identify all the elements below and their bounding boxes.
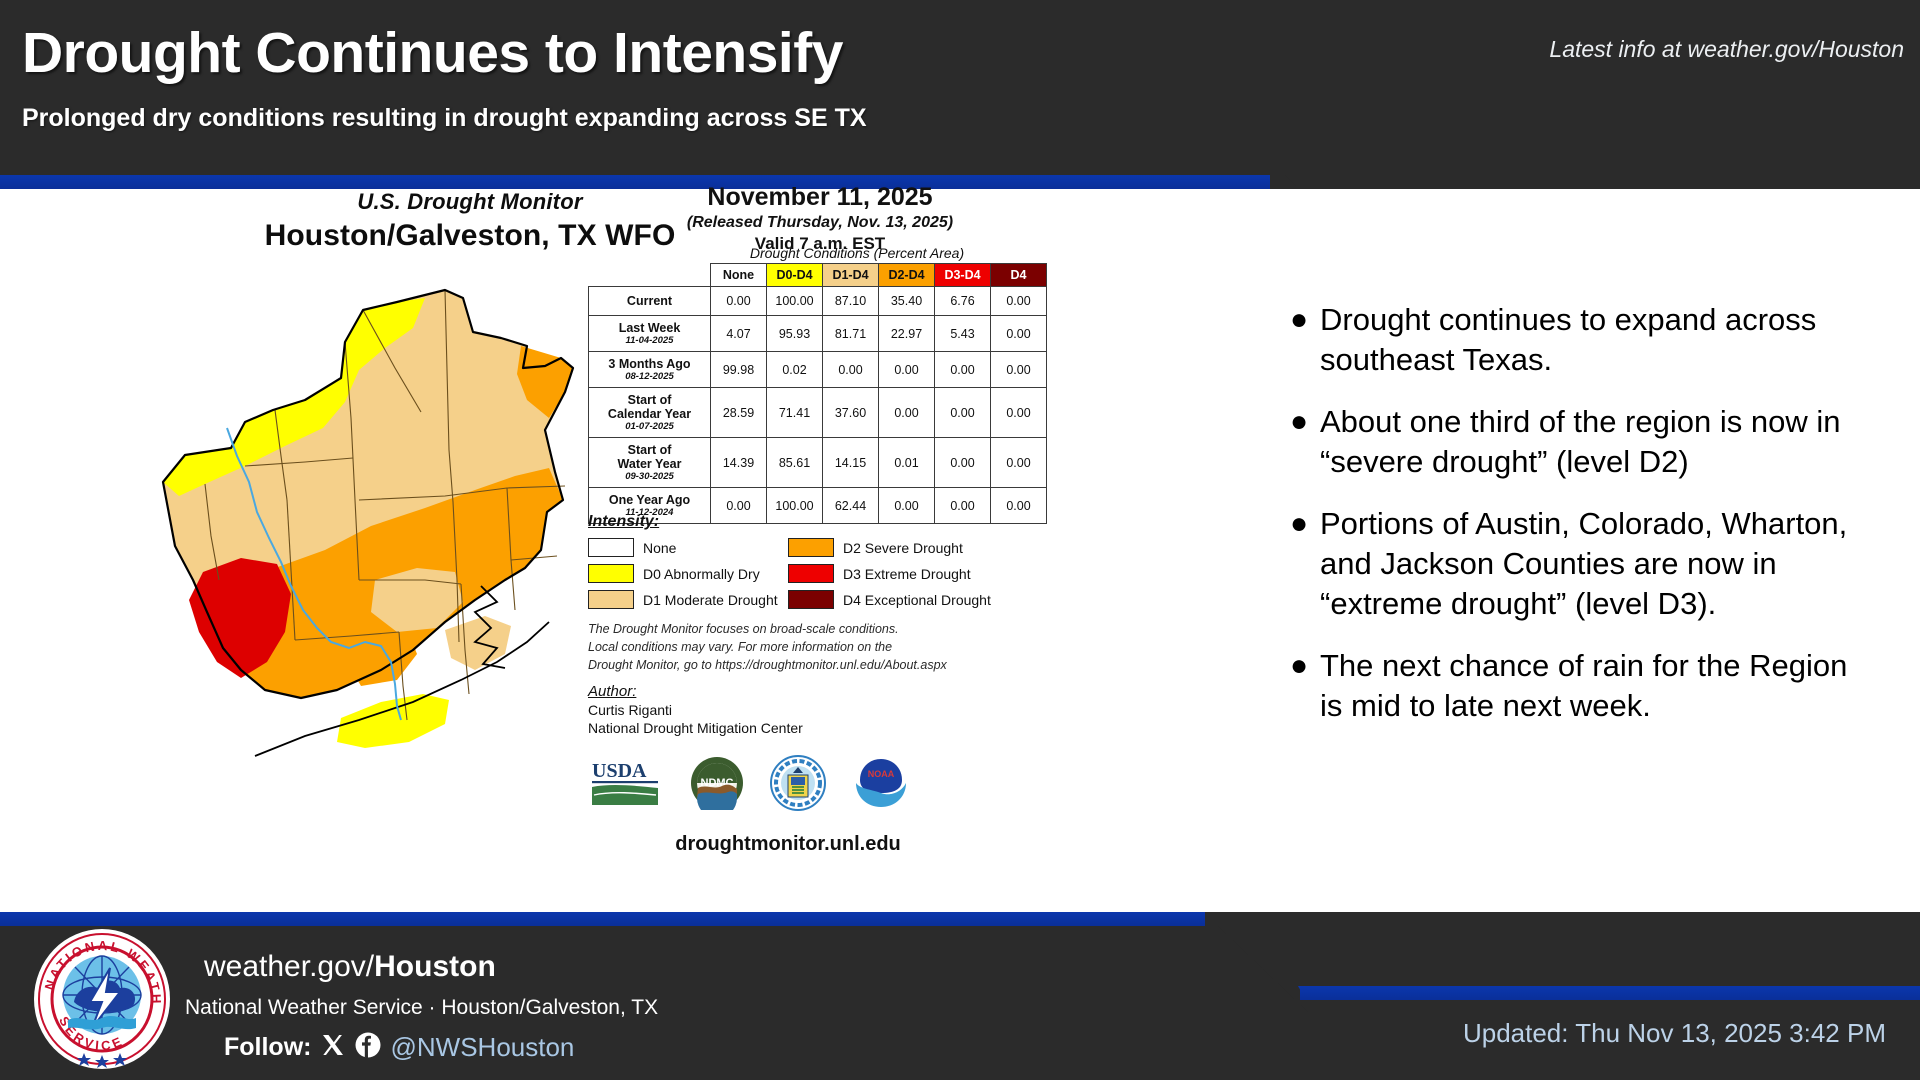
list-item: ● The next chance of rain for the Region… (1290, 646, 1870, 726)
table-row: Last Week 11-04-2025 4.07 95.93 81.71 22… (589, 316, 1047, 352)
bullet-dot-icon: ● (1290, 300, 1320, 380)
bullet-text: Portions of Austin, Colorado, Wharton, a… (1320, 504, 1870, 624)
footer-office-name: National Weather Service · Houston/Galve… (185, 996, 658, 1020)
svg-text:NOAA: NOAA (868, 769, 895, 779)
latest-info-label: Latest info at weather.gov/Houston (1549, 36, 1904, 63)
cell: 99.98 (711, 352, 767, 388)
legend-swatch-d4 (788, 590, 834, 609)
drought-map (145, 250, 615, 770)
drought-monitor-date: November 11, 2025 (600, 183, 1040, 212)
legend-item-d4: D4 Exceptional Drought (788, 590, 1018, 609)
legend-item-d0: D0 Abnormally Dry (588, 564, 788, 583)
footer-accent-bar-right (1300, 986, 1920, 1000)
disclaimer-line-2: Local conditions may vary. For more info… (588, 638, 1048, 656)
legend-swatch-d0 (588, 564, 634, 583)
cell: 4.07 (711, 316, 767, 352)
cell: 35.40 (879, 287, 935, 316)
ndmc-logo-icon: NDMC (690, 756, 744, 815)
list-item: ● Drought continues to expand across sou… (1290, 300, 1870, 380)
footer-updated-timestamp: Updated: Thu Nov 13, 2025 3:42 PM (1463, 1018, 1886, 1049)
legend-item-d2: D2 Severe Drought (788, 538, 1018, 557)
drought-conditions-table-wrapper: Drought Conditions (Percent Area) None D… (588, 245, 1058, 524)
cell: 0.00 (823, 352, 879, 388)
cell: 0.00 (991, 316, 1047, 352)
drought-conditions-table: None D0-D4 D1-D4 D2-D4 D3-D4 D4 Current … (588, 263, 1047, 524)
legend-item-none: None (588, 538, 788, 557)
author-name: Curtis Riganti (588, 702, 988, 718)
bullet-text: About one third of the region is now in … (1320, 402, 1870, 482)
nws-seal-logo-icon: NATIONAL WEATHER SERVICE (32, 928, 172, 1070)
drought-monitor-release-date: (Released Thursday, Nov. 13, 2025) (600, 214, 1040, 232)
cell: 0.00 (879, 352, 935, 388)
legend-item-d3: D3 Extreme Drought (788, 564, 1018, 583)
row-label-start-water-year: Start ofWater Year 09-30-2025 (589, 438, 711, 488)
legend-label: D1 Moderate Drought (643, 592, 778, 608)
legend-label: None (643, 540, 676, 556)
table-row: 3 Months Ago 08-12-2025 99.98 0.02 0.00 … (589, 352, 1047, 388)
cell: 81.71 (823, 316, 879, 352)
disclaimer-line-3: Drought Monitor, go to https://droughtmo… (588, 656, 1048, 674)
bullet-dot-icon: ● (1290, 402, 1320, 482)
noaa-logo-icon: NOAA (852, 757, 910, 814)
table-header-row: None D0-D4 D1-D4 D2-D4 D3-D4 D4 (589, 264, 1047, 287)
drought-monitor-date-block: November 11, 2025 (Released Thursday, No… (600, 183, 1040, 254)
cell: 0.00 (935, 352, 991, 388)
author-label: Author: (588, 683, 988, 700)
table-row: Start ofWater Year 09-30-2025 14.39 85.6… (589, 438, 1047, 488)
cell: 0.00 (991, 438, 1047, 488)
cell: 87.10 (823, 287, 879, 316)
usda-logo-icon: USDA (590, 757, 664, 814)
cell: 0.01 (879, 438, 935, 488)
drought-map-shading (163, 290, 573, 748)
footer-website-url: weather.gov/Houston (204, 950, 496, 984)
header-banner: Drought Continues to Intensify Prolonged… (0, 0, 1920, 185)
table-corner-cell (589, 264, 711, 287)
drought-monitor-disclaimer: The Drought Monitor focuses on broad-sca… (588, 620, 1048, 674)
table-col-none: None (711, 264, 767, 287)
cell: 0.00 (991, 287, 1047, 316)
drought-monitor-graphic: U.S. Drought Monitor Houston/Galveston, … (120, 195, 1120, 915)
intensity-legend: Intensity: None D2 Severe Drought D0 Abn… (588, 513, 1058, 609)
x-twitter-icon[interactable] (320, 1032, 346, 1063)
footer-follow-block: Follow: @NWSHouston (224, 1032, 574, 1063)
bullet-list: ● Drought continues to expand across sou… (1290, 300, 1870, 748)
intensity-legend-title: Intensity: (588, 513, 1058, 531)
svg-text:USDA: USDA (592, 760, 647, 782)
table-col-d3d4: D3-D4 (935, 264, 991, 287)
cell: 0.02 (767, 352, 823, 388)
cell: 0.00 (935, 388, 991, 438)
cell: 14.39 (711, 438, 767, 488)
row-label-3-months-ago: 3 Months Ago 08-12-2025 (589, 352, 711, 388)
cell: 28.59 (711, 388, 767, 438)
legend-label: D3 Extreme Drought (843, 566, 971, 582)
legend-label: D2 Severe Drought (843, 540, 963, 556)
cell: 5.43 (935, 316, 991, 352)
footer-url-bold: Houston (374, 950, 496, 983)
table-row: Start ofCalendar Year 01-07-2025 28.59 7… (589, 388, 1047, 438)
cell: 14.15 (823, 438, 879, 488)
social-handle[interactable]: @NWSHouston (390, 1032, 574, 1063)
page-title: Drought Continues to Intensify (22, 20, 843, 86)
legend-label: D0 Abnormally Dry (643, 566, 760, 582)
list-item: ● Portions of Austin, Colorado, Wharton,… (1290, 504, 1870, 624)
legend-swatch-none (588, 538, 634, 557)
cell: 95.93 (767, 316, 823, 352)
page-subtitle: Prolonged dry conditions resulting in dr… (22, 104, 867, 133)
bullet-text: Drought continues to expand across south… (1320, 300, 1870, 380)
row-label-start-calendar-year: Start ofCalendar Year 01-07-2025 (589, 388, 711, 438)
disclaimer-line-1: The Drought Monitor focuses on broad-sca… (588, 620, 1048, 638)
bullet-dot-icon: ● (1290, 504, 1320, 624)
usda-seal-icon (770, 755, 826, 816)
cell: 0.00 (711, 287, 767, 316)
table-col-d1d4: D1-D4 (823, 264, 879, 287)
list-item: ● About one third of the region is now i… (1290, 402, 1870, 482)
cell: 100.00 (767, 287, 823, 316)
cell: 37.60 (823, 388, 879, 438)
legend-label: D4 Exceptional Drought (843, 592, 991, 608)
table-row: Current 0.00 100.00 87.10 35.40 6.76 0.0… (589, 287, 1047, 316)
cell: 0.00 (991, 352, 1047, 388)
row-label-last-week: Last Week 11-04-2025 (589, 316, 711, 352)
legend-swatch-d2 (788, 538, 834, 557)
cell: 0.00 (991, 388, 1047, 438)
cell: 0.00 (879, 388, 935, 438)
legend-swatch-d3 (788, 564, 834, 583)
bullet-text: The next chance of rain for the Region i… (1320, 646, 1870, 726)
cell: 0.00 (935, 438, 991, 488)
table-col-d0d4: D0-D4 (767, 264, 823, 287)
facebook-icon[interactable] (355, 1032, 381, 1063)
drought-monitor-url: droughtmonitor.unl.edu (588, 833, 988, 856)
drought-monitor-author-block: Author: Curtis Riganti National Drought … (588, 683, 988, 736)
bullet-dot-icon: ● (1290, 646, 1320, 726)
cell: 22.97 (879, 316, 935, 352)
follow-label: Follow: (224, 1033, 311, 1062)
row-label-current: Current (589, 287, 711, 316)
author-organization: National Drought Mitigation Center (588, 720, 988, 736)
cell: 71.41 (767, 388, 823, 438)
table-col-d4: D4 (991, 264, 1047, 287)
legend-item-d1: D1 Moderate Drought (588, 590, 788, 609)
legend-swatch-d1 (588, 590, 634, 609)
footer-url-plain: weather.gov/ (204, 950, 374, 983)
cell: 6.76 (935, 287, 991, 316)
cell: 85.61 (767, 438, 823, 488)
table-col-d2d4: D2-D4 (879, 264, 935, 287)
partner-logos: USDA NDMC (590, 755, 990, 816)
drought-table-caption: Drought Conditions (Percent Area) (656, 245, 1058, 261)
footer-accent-bar-left (0, 912, 1205, 926)
